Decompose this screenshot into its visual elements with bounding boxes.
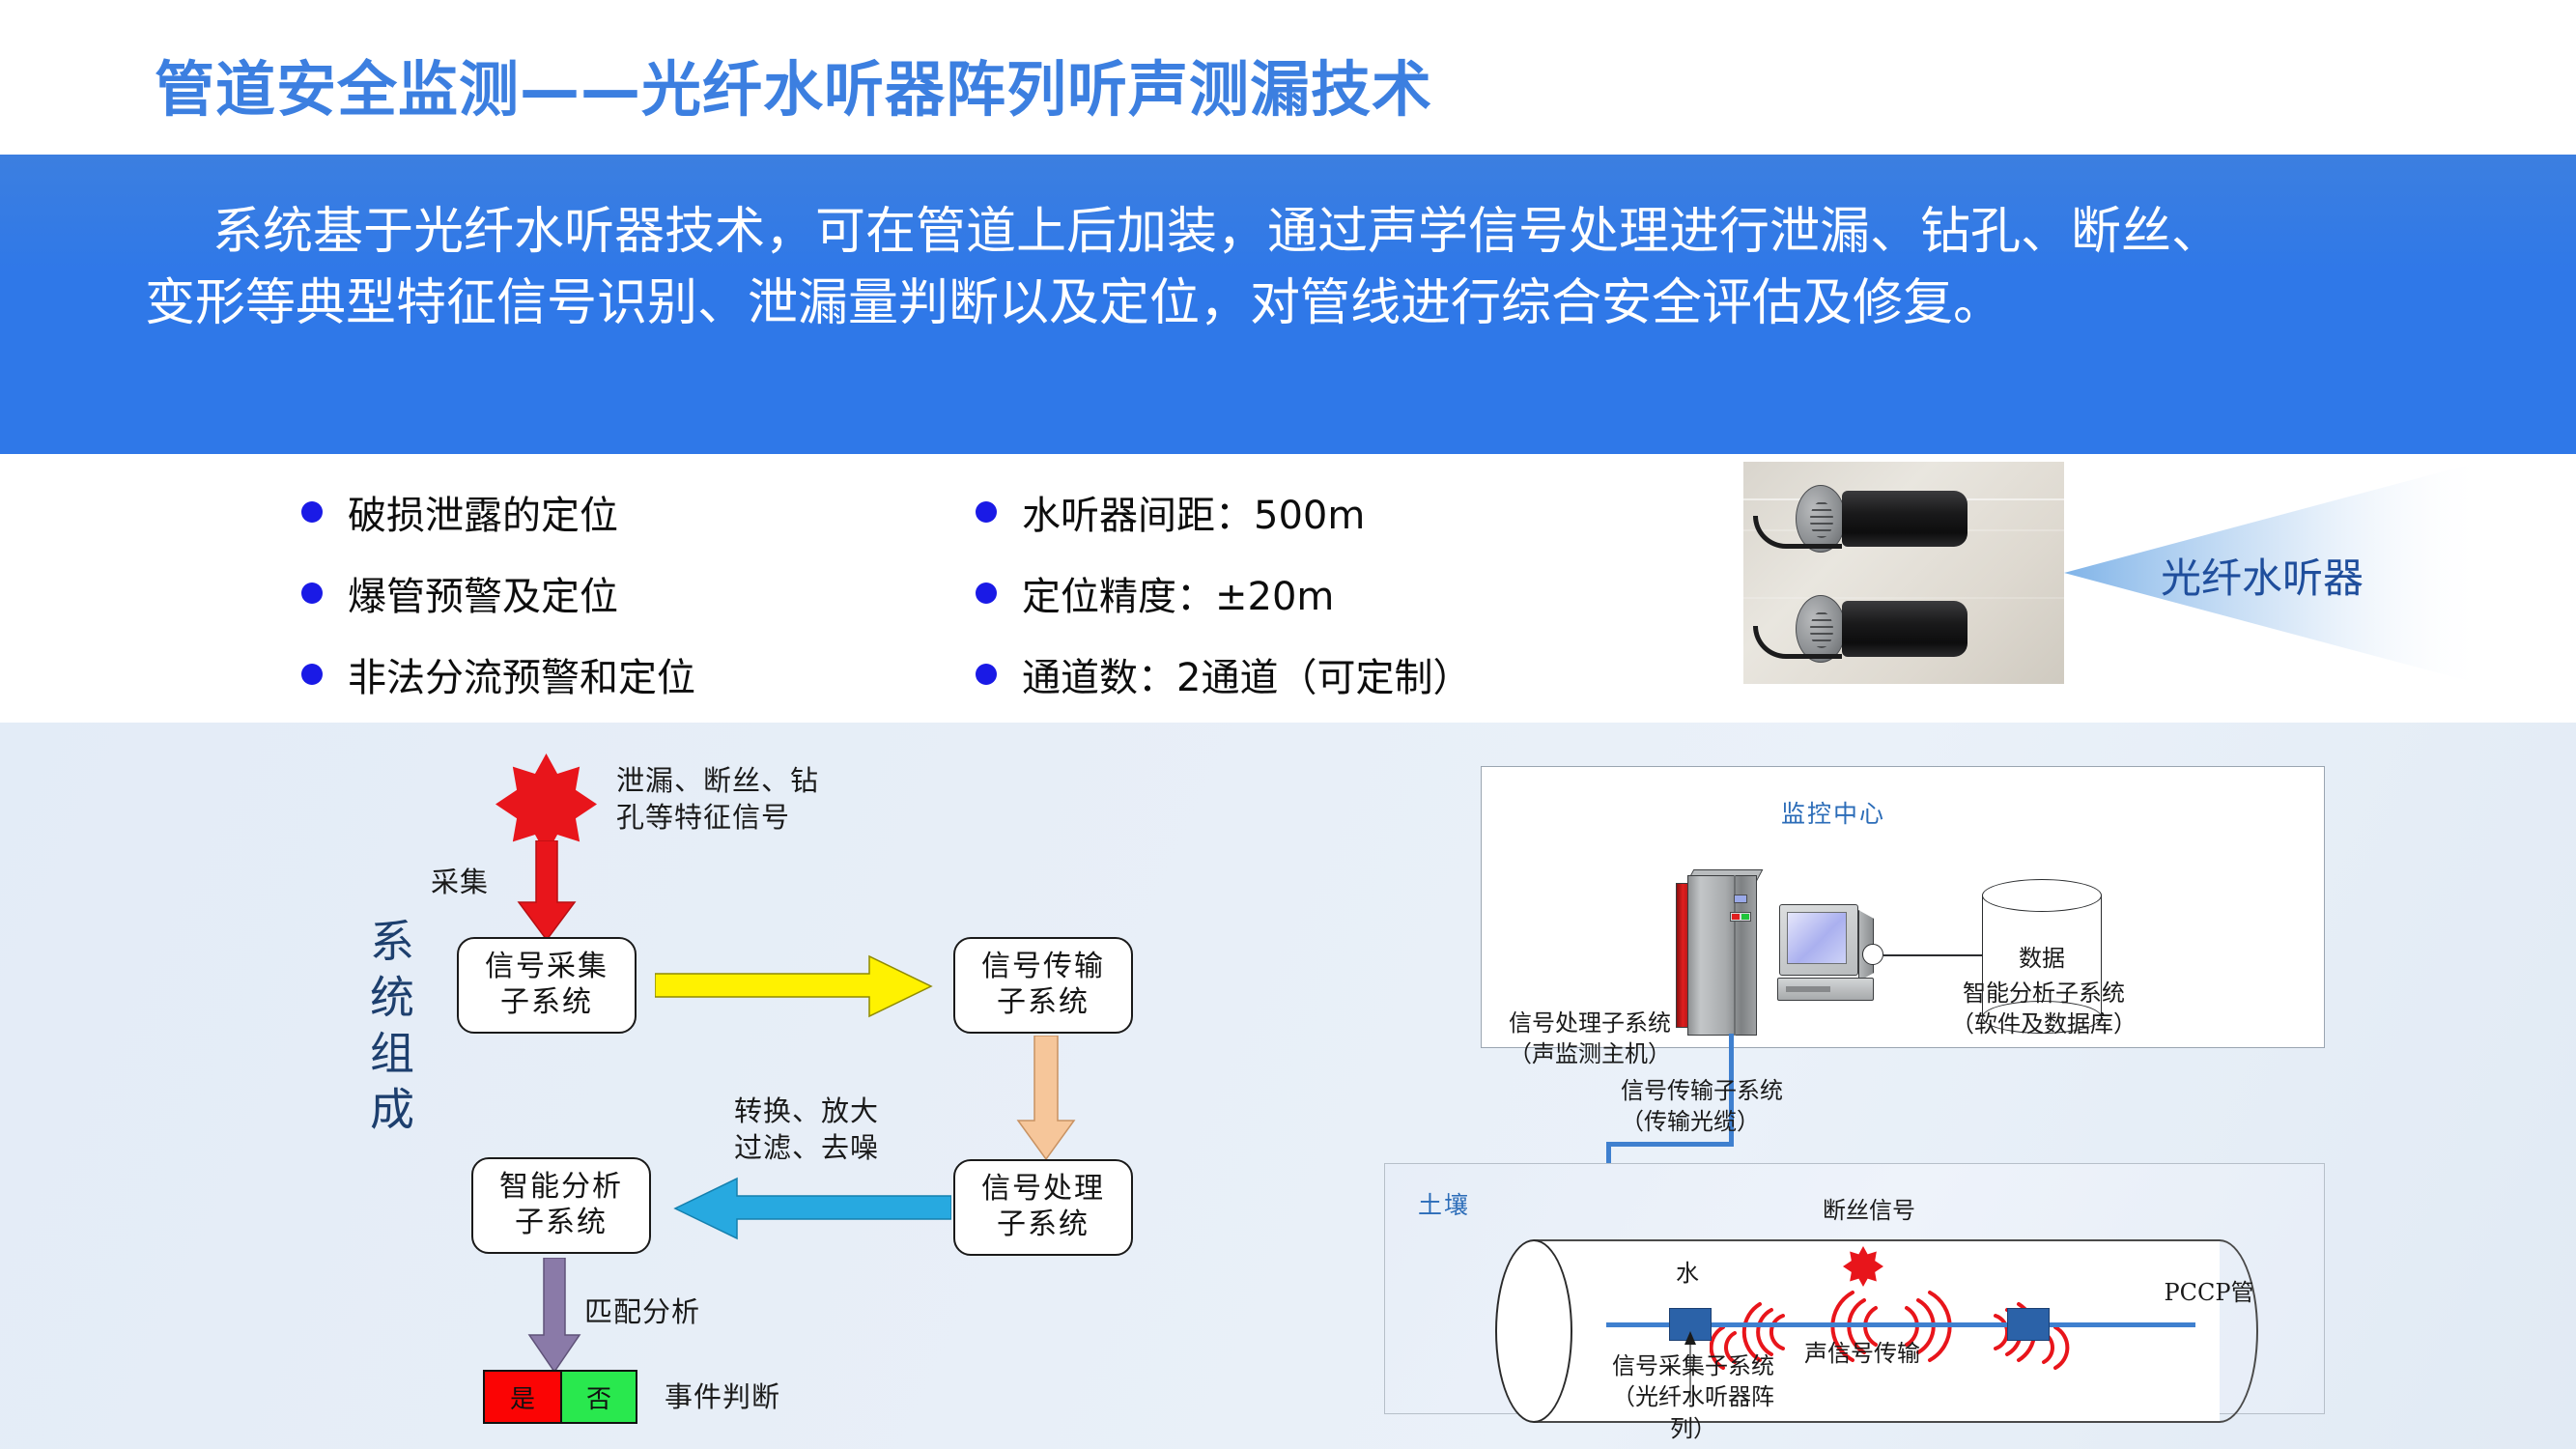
list-item: 水听器间距：500m (976, 471, 1471, 553)
flow-box-acquire-label: 信号采集 子系统 (485, 950, 609, 1020)
list-item-label: 定位精度：±20m (1022, 565, 1334, 621)
list-item: 破损泄露的定位 (301, 471, 695, 553)
bullet-dot-icon (976, 501, 997, 523)
section-title-system-composition: 系统组成 (357, 918, 421, 1142)
list-item: 通道数：2通道（可定制） (976, 634, 1471, 715)
analysis-subsystem-label: 智能分析子系统 （软件及数据库） (1941, 978, 2146, 1040)
control-center-panel (1481, 766, 2325, 1048)
flow-box-transmit: 信号传输 子系统 (953, 937, 1133, 1034)
arrow-down-collect-icon (515, 840, 579, 942)
flow-box-process: 信号处理 子系统 (953, 1159, 1133, 1256)
list-item: 爆管预警及定位 (301, 553, 695, 634)
hydrophone-photo-caption: 光纤水听器 (2161, 546, 2364, 605)
acoustic-transmission-label: 声信号传输 (1785, 1338, 1939, 1369)
water-label: 水 (1668, 1258, 1707, 1289)
list-item-label: 水听器间距：500m (1022, 484, 1365, 540)
list-item: 定位精度：±20m (976, 553, 1471, 634)
intro-banner-text: 系统基于光纤水听器技术，可在管道上后加装，通过声学信号处理进行泄漏、钻孔、断丝、… (145, 197, 2463, 340)
list-item-label: 通道数：2通道（可定制） (1022, 646, 1471, 702)
decision-no: 否 (560, 1372, 636, 1422)
acquisition-subsystem-label: 信号采集子系统 （光纤水听器阵列） (1599, 1350, 1788, 1444)
arrow-down-match-icon (526, 1258, 582, 1374)
feature-list-left: 破损泄露的定位 爆管预警及定位 非法分流预警和定位 (301, 471, 695, 715)
page-title: 管道安全监测——光纤水听器阵列听声测漏技术 (155, 41, 1432, 128)
bullet-dot-icon (301, 582, 323, 604)
hydrophone-unit-top (1796, 485, 1969, 554)
feature-list-right: 水听器间距：500m 定位精度：±20m 通道数：2通道（可定制） (976, 471, 1471, 715)
slide-root: 管道安全监测——光纤水听器阵列听声测漏技术 系统基于光纤水听器技术，可在管道上后… (0, 0, 2576, 1449)
flow-box-process-label: 信号处理 子系统 (981, 1172, 1105, 1242)
bullet-dot-icon (301, 501, 323, 523)
intro-line-1: 系统基于光纤水听器技术，可在管道上后加装，通过声学信号处理进行泄漏、钻孔、断丝、 (145, 197, 2463, 269)
flow-box-transmit-label: 信号传输 子系统 (981, 950, 1105, 1020)
intro-line-2: 变形等典型特征信号识别、泄漏量判断以及定位，对管线进行综合安全评估及修复。 (145, 269, 2463, 340)
hydrophone-unit-bottom (1796, 595, 1969, 665)
hydrophone-sensor-2 (2007, 1308, 2050, 1341)
server-tower-icon (1674, 869, 1757, 1036)
hydrophone-photo (1743, 462, 2064, 684)
flow-box-acquire: 信号采集 子系统 (457, 937, 637, 1034)
decision-yes: 是 (485, 1372, 560, 1422)
intro-banner: 系统基于光纤水听器技术，可在管道上后加装，通过声学信号处理进行泄漏、钻孔、断丝、… (0, 155, 2576, 454)
transform-label: 转换、放大 过滤、去噪 (734, 1094, 879, 1166)
collect-label: 采集 (431, 865, 489, 901)
database-label: 数据 (1982, 939, 2102, 973)
fiber-cable-horizontal (1606, 1142, 1734, 1147)
pipe-type-label: PCCP管 (2156, 1277, 2262, 1308)
host-label: 信号处理子系统 （声监测主机） (1487, 1008, 1671, 1070)
soil-title: 土壤 (1418, 1186, 1470, 1221)
bullet-dot-icon (976, 582, 997, 604)
arrow-left-analyze-icon (671, 1177, 951, 1240)
flow-box-analyze-label: 智能分析 子系统 (499, 1170, 623, 1240)
network-node-icon (1862, 944, 1883, 965)
list-item-label: 破损泄露的定位 (348, 484, 618, 540)
control-center-title: 监控中心 (1781, 795, 1885, 830)
decision-indicator: 是 否 (483, 1370, 637, 1424)
bullet-dot-icon (301, 664, 323, 685)
match-label: 匹配分析 (584, 1294, 700, 1331)
break-signal-label: 断丝信号 (1801, 1195, 1937, 1226)
list-item-label: 非法分流预警和定位 (348, 646, 695, 702)
flow-box-analyze: 智能分析 子系统 (471, 1157, 651, 1254)
event-signal-label: 泄漏、断丝、钻 孔等特征信号 (616, 763, 819, 836)
arrow-right-transmit-icon (655, 954, 933, 1018)
list-item-label: 爆管预警及定位 (348, 565, 618, 621)
decision-label: 事件判断 (665, 1379, 780, 1416)
bullet-dot-icon (976, 664, 997, 685)
arrow-down-process-icon (1014, 1036, 1078, 1161)
transmission-subsystem-label: 信号传输子系统 （传输光缆） (1621, 1075, 1843, 1138)
list-item: 非法分流预警和定位 (301, 634, 695, 715)
